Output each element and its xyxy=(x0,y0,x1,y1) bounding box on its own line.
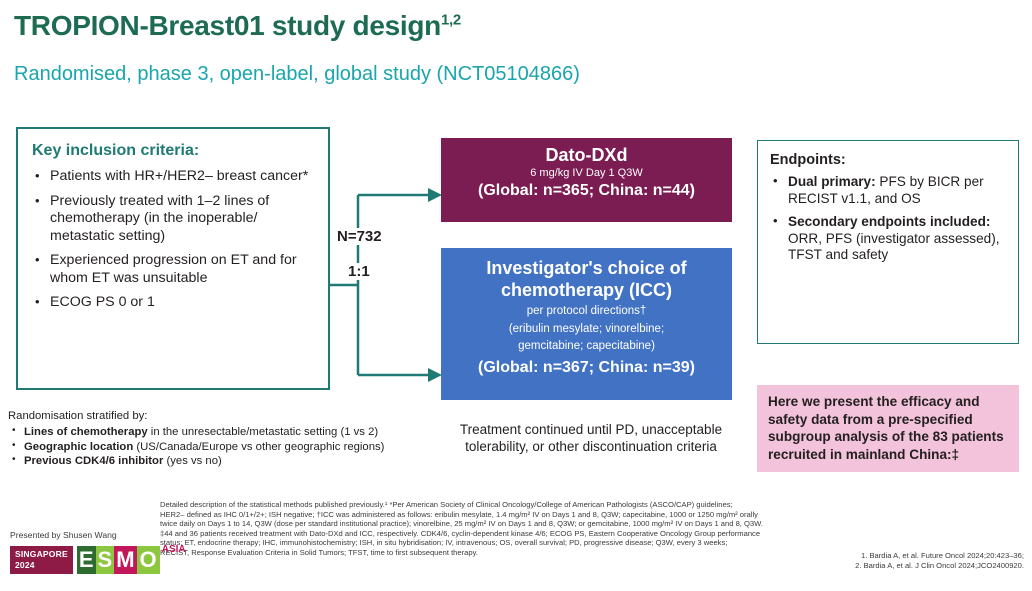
congress-location-logo: SINGAPORE 2024 xyxy=(10,546,73,574)
esmo-letter-m: M xyxy=(114,546,136,574)
page-title-text: TROPION-Breast01 study design xyxy=(14,10,441,41)
congress-city: SINGAPORE xyxy=(15,549,68,560)
esmo-letter-e: E xyxy=(77,546,96,574)
list-item: Previously treated with 1–2 lines of che… xyxy=(32,193,316,246)
list-item: ECOG PS 0 or 1 xyxy=(32,294,316,312)
endpoint-detail: ORR, PFS (investigator assessed), TFST a… xyxy=(788,231,1000,263)
list-item: Patients with HR+/HER2– breast cancer* xyxy=(32,168,316,186)
list-item: Lines of chemotherapy in the unresectabl… xyxy=(8,425,428,440)
strat-factor: Geographic location xyxy=(24,441,133,453)
strat-detail: in the unresectable/metastatic setting (… xyxy=(148,426,378,438)
treatment-arm-dato-dxd: Dato-DXd 6 mg/kg IV Day 1 Q3W (Global: n… xyxy=(441,138,732,222)
treatment-duration-note: Treatment continued until PD, unacceptab… xyxy=(441,421,741,455)
arm-name-line2: chemotherapy (ICC) xyxy=(441,279,732,301)
presenter-credit: Presented by Shusen Wang xyxy=(10,530,117,540)
arm-name-line1: Investigator's choice of xyxy=(441,257,732,279)
footnote-line: ‡44 and 36 patients received treatment w… xyxy=(160,529,830,539)
reference-item: 2. Bardia A, et al. J Clin Oncol 2024;JC… xyxy=(824,561,1024,571)
endpoints-list: Dual primary: PFS by BICR per RECIST v1.… xyxy=(770,174,1008,264)
stratification-list: Lines of chemotherapy in the unresectabl… xyxy=(8,425,428,469)
strat-detail: (yes vs no) xyxy=(163,455,221,467)
stratification-heading: Randomisation stratified by: xyxy=(8,410,428,422)
reference-item: 1. Bardia A, et al. Future Oncol 2024;20… xyxy=(824,551,1024,561)
endpoints-panel: Endpoints: Dual primary: PFS by BICR per… xyxy=(757,140,1019,344)
randomisation-ratio: 1:1 xyxy=(345,263,373,280)
arm-dose: 6 mg/kg IV Day 1 Q3W xyxy=(441,167,732,179)
footnotes-block: Detailed description of the statistical … xyxy=(160,500,830,558)
arm-name: Dato-DXd xyxy=(441,145,732,166)
footnote-line: twice daily on Days 1 to 14, Q3W (dose p… xyxy=(160,519,830,529)
list-item: Secondary endpoints included: ORR, PFS (… xyxy=(770,214,1008,264)
treatment-arm-icc: Investigator's choice of chemotherapy (I… xyxy=(441,248,732,400)
footnote-line: RECIST, Response Evaluation Criteria in … xyxy=(160,548,830,558)
strat-factor: Lines of chemotherapy xyxy=(24,426,148,438)
endpoint-label: Secondary endpoints included: xyxy=(788,214,990,229)
inclusion-criteria-panel: Key inclusion criteria: Patients with HR… xyxy=(16,127,330,390)
arm-patient-counts: (Global: n=365; China: n=44) xyxy=(441,182,732,200)
arm-protocol-line: per protocol directions† xyxy=(441,304,732,319)
esmo-letter-s: S xyxy=(96,546,115,574)
list-item: Experienced progression on ET and for wh… xyxy=(32,252,316,287)
stratification-block: Randomisation stratified by: Lines of ch… xyxy=(8,410,428,469)
arm-drugs-line1: (eribulin mesylate; vinorelbine; xyxy=(441,322,732,337)
strat-factor: Previous CDK4/6 inhibitor xyxy=(24,455,163,467)
footnote-line: HER2– defined as IHC 0/1+/2+; ISH negati… xyxy=(160,510,830,520)
list-item: Previous CDK4/6 inhibitor (yes vs no) xyxy=(8,454,428,469)
arm-drugs-line2: gemcitabine; capecitabine) xyxy=(441,339,732,354)
endpoint-label: Dual primary: xyxy=(788,174,876,189)
randomisation-total: N=732 xyxy=(334,228,385,245)
congress-year: 2024 xyxy=(15,560,68,571)
footnote-line: status; ET, endocrine therapy; IHC, immu… xyxy=(160,538,830,548)
logo-row: SINGAPORE 2024 E S M O ASIA xyxy=(10,546,160,574)
inclusion-criteria-heading: Key inclusion criteria: xyxy=(32,142,316,160)
page-subtitle: Randomised, phase 3, open-label, global … xyxy=(14,63,580,86)
footnote-line: Detailed description of the statistical … xyxy=(160,500,830,510)
list-item: Dual primary: PFS by BICR per RECIST v1.… xyxy=(770,174,1008,207)
esmo-letter-o: O xyxy=(137,546,160,574)
china-subgroup-callout: Here we present the efficacy and safety … xyxy=(757,385,1019,472)
esmo-region-label: ASIA xyxy=(162,544,186,555)
page-title-superscript: 1,2 xyxy=(441,12,461,29)
arm-patient-counts: (Global: n=367; China: n=39) xyxy=(441,359,732,377)
endpoints-heading: Endpoints: xyxy=(770,152,1008,168)
strat-detail: (US/Canada/Europe vs other geographic re… xyxy=(133,441,384,453)
references-block: 1. Bardia A, et al. Future Oncol 2024;20… xyxy=(824,551,1024,571)
esmo-asia-logo: E S M O ASIA xyxy=(77,546,160,574)
inclusion-criteria-list: Patients with HR+/HER2– breast cancer* P… xyxy=(32,168,316,312)
list-item: Geographic location (US/Canada/Europe vs… xyxy=(8,440,428,455)
page-title: TROPION-Breast01 study design1,2 xyxy=(14,10,461,42)
